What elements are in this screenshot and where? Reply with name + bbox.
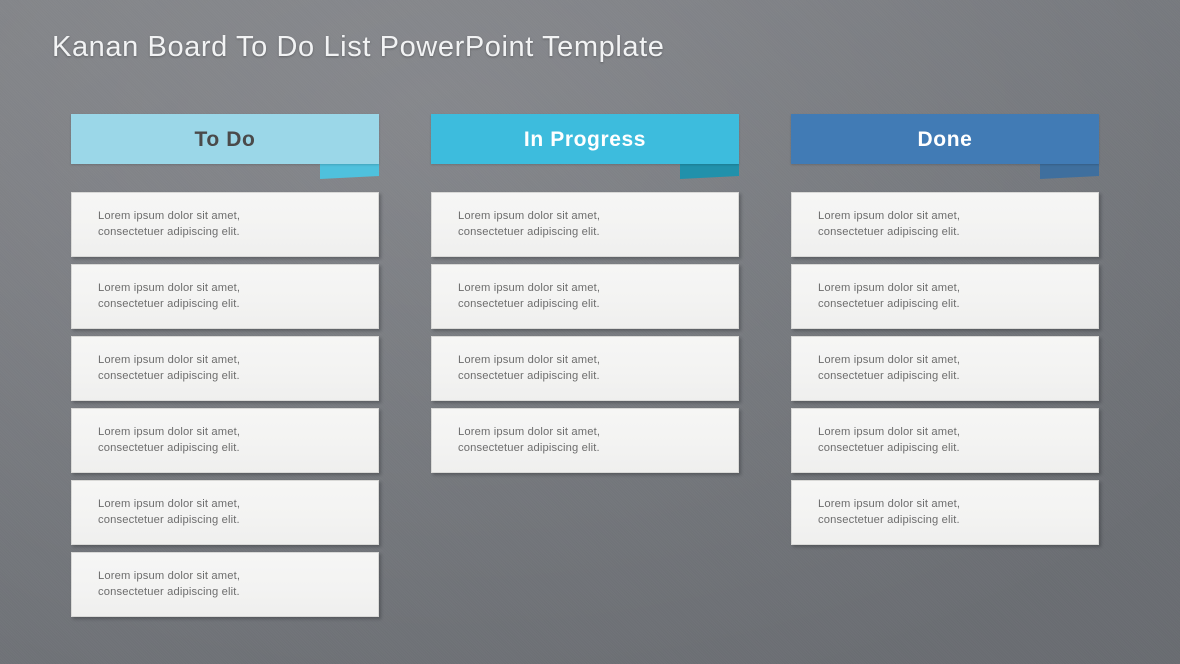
- task-card-text: Lorem ipsum dolor sit amet, consectetuer…: [792, 497, 974, 528]
- card-list-in-progress: Lorem ipsum dolor sit amet, consectetuer…: [431, 192, 739, 473]
- task-card-text: Lorem ipsum dolor sit amet, consectetuer…: [432, 281, 614, 312]
- task-card[interactable]: Lorem ipsum dolor sit amet, consectetuer…: [431, 336, 739, 401]
- task-card-text: Lorem ipsum dolor sit amet, consectetuer…: [432, 353, 614, 384]
- kanban-column-done: DoneLorem ipsum dolor sit amet, consecte…: [791, 114, 1099, 552]
- task-card-text: Lorem ipsum dolor sit amet, consectetuer…: [72, 281, 254, 312]
- task-card[interactable]: Lorem ipsum dolor sit amet, consectetuer…: [791, 264, 1099, 329]
- slide-canvas: Kanan Board To Do List PowerPoint Templa…: [0, 0, 1180, 664]
- kanban-column-to-do: To DoLorem ipsum dolor sit amet, consect…: [71, 114, 379, 624]
- column-header-banner-in-progress[interactable]: In Progress: [431, 114, 739, 164]
- task-card-text: Lorem ipsum dolor sit amet, consectetuer…: [72, 353, 254, 384]
- column-header-done: Done: [791, 114, 1099, 178]
- page-title: Kanan Board To Do List PowerPoint Templa…: [52, 31, 665, 64]
- task-card[interactable]: Lorem ipsum dolor sit amet, consectetuer…: [71, 192, 379, 257]
- kanban-board: To DoLorem ipsum dolor sit amet, consect…: [0, 0, 1180, 664]
- task-card-text: Lorem ipsum dolor sit amet, consectetuer…: [72, 425, 254, 456]
- column-header-banner-done[interactable]: Done: [791, 114, 1099, 164]
- task-card-text: Lorem ipsum dolor sit amet, consectetuer…: [792, 209, 974, 240]
- task-card-text: Lorem ipsum dolor sit amet, consectetuer…: [72, 569, 254, 600]
- task-card[interactable]: Lorem ipsum dolor sit amet, consectetuer…: [791, 408, 1099, 473]
- task-card-text: Lorem ipsum dolor sit amet, consectetuer…: [792, 353, 974, 384]
- task-card[interactable]: Lorem ipsum dolor sit amet, consectetuer…: [791, 336, 1099, 401]
- column-header-label: Done: [918, 129, 973, 150]
- task-card-text: Lorem ipsum dolor sit amet, consectetuer…: [432, 209, 614, 240]
- task-card-text: Lorem ipsum dolor sit amet, consectetuer…: [432, 425, 614, 456]
- column-header-label: In Progress: [524, 129, 646, 150]
- ribbon-fold-icon: [680, 164, 739, 179]
- kanban-column-in-progress: In ProgressLorem ipsum dolor sit amet, c…: [431, 114, 739, 480]
- task-card-text: Lorem ipsum dolor sit amet, consectetuer…: [792, 281, 974, 312]
- task-card[interactable]: Lorem ipsum dolor sit amet, consectetuer…: [791, 192, 1099, 257]
- column-header-to-do: To Do: [71, 114, 379, 178]
- column-header-banner-to-do[interactable]: To Do: [71, 114, 379, 164]
- column-header-in-progress: In Progress: [431, 114, 739, 178]
- task-card-text: Lorem ipsum dolor sit amet, consectetuer…: [72, 497, 254, 528]
- task-card[interactable]: Lorem ipsum dolor sit amet, consectetuer…: [71, 552, 379, 617]
- column-header-label: To Do: [195, 129, 256, 150]
- task-card[interactable]: Lorem ipsum dolor sit amet, consectetuer…: [71, 480, 379, 545]
- task-card-text: Lorem ipsum dolor sit amet, consectetuer…: [72, 209, 254, 240]
- task-card[interactable]: Lorem ipsum dolor sit amet, consectetuer…: [431, 192, 739, 257]
- task-card[interactable]: Lorem ipsum dolor sit amet, consectetuer…: [71, 336, 379, 401]
- task-card[interactable]: Lorem ipsum dolor sit amet, consectetuer…: [71, 264, 379, 329]
- card-list-to-do: Lorem ipsum dolor sit amet, consectetuer…: [71, 192, 379, 617]
- task-card[interactable]: Lorem ipsum dolor sit amet, consectetuer…: [71, 408, 379, 473]
- task-card[interactable]: Lorem ipsum dolor sit amet, consectetuer…: [431, 408, 739, 473]
- card-list-done: Lorem ipsum dolor sit amet, consectetuer…: [791, 192, 1099, 545]
- task-card[interactable]: Lorem ipsum dolor sit amet, consectetuer…: [791, 480, 1099, 545]
- task-card-text: Lorem ipsum dolor sit amet, consectetuer…: [792, 425, 974, 456]
- task-card[interactable]: Lorem ipsum dolor sit amet, consectetuer…: [431, 264, 739, 329]
- ribbon-fold-icon: [320, 164, 379, 179]
- ribbon-fold-icon: [1040, 164, 1099, 179]
